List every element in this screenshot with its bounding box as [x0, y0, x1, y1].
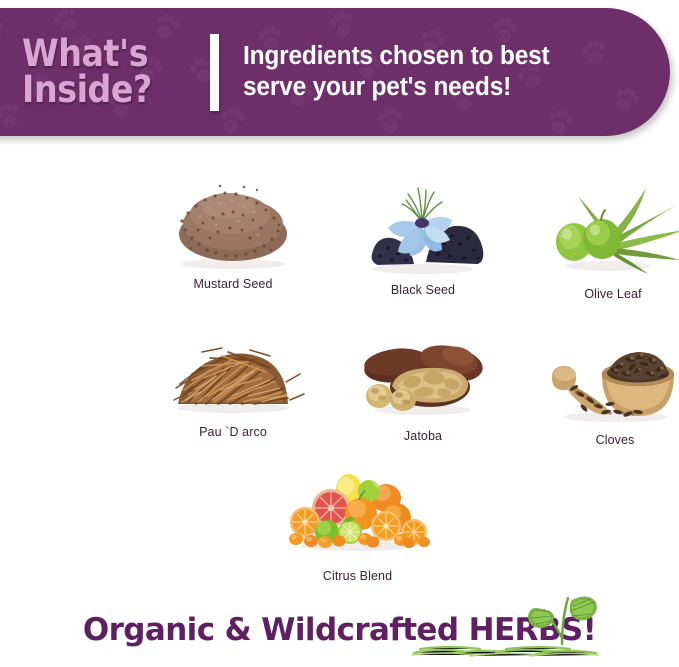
citrus-blend-image — [283, 460, 433, 565]
headline-line-2: Inside? — [22, 72, 182, 108]
header-banner: What's Inside? Ingredients chosen to bes… — [0, 8, 670, 136]
ingredient-label: Jatoba — [404, 429, 442, 443]
ingredient-label: Pau `D arco — [199, 425, 267, 439]
ingredient-label: Black Seed — [391, 283, 455, 297]
cloves-image — [540, 324, 679, 429]
ingredient-label: Citrus Blend — [323, 569, 392, 583]
ingredient-row: Citrus Blend — [0, 460, 679, 580]
ingredient-label: Olive Leaf — [584, 287, 641, 301]
ingredient-grid: Mustard Seed — [0, 160, 679, 580]
black-seed-image — [348, 174, 498, 279]
subhead-line-2: serve your pet's needs! — [243, 72, 549, 103]
headline-block: What's Inside? — [0, 36, 200, 109]
footer-banner: Organic & Wildcrafted HERBS! — [0, 599, 679, 661]
ingredient-item-black-seed: Black Seed — [338, 174, 508, 324]
ingredient-label: Cloves — [596, 433, 635, 447]
ingredient-row: Pau `D arco — [0, 310, 679, 460]
ingredient-item-pau-d-arco: Pau `D arco — [148, 316, 318, 466]
subhead-block: Ingredients chosen to best serve your pe… — [243, 41, 562, 103]
banner-divider — [210, 34, 219, 111]
ingredient-item-olive-leaf: Olive Leaf — [528, 178, 679, 328]
jatoba-image — [348, 320, 498, 425]
headline-line-1: What's — [22, 36, 182, 72]
ingredient-item-mustard-seed: Mustard Seed — [148, 168, 318, 318]
pau-d-arco-image — [158, 316, 308, 421]
ingredient-row: Mustard Seed — [0, 160, 679, 310]
footer-headline: Organic & Wildcrafted HERBS! — [83, 612, 596, 648]
mustard-seed-image — [158, 168, 308, 273]
footer-wrap: Organic & Wildcrafted HERBS! — [83, 612, 596, 648]
subhead-line-1: Ingredients chosen to best — [243, 41, 549, 72]
ingredient-item-citrus-blend: Citrus Blend — [273, 460, 443, 580]
ingredient-item-jatoba: Jatoba — [338, 320, 508, 470]
olive-leaf-image — [538, 178, 679, 283]
ingredient-label: Mustard Seed — [193, 277, 272, 291]
banner-content: What's Inside? Ingredients chosen to bes… — [0, 8, 670, 136]
ingredient-item-cloves: Cloves — [530, 324, 679, 474]
